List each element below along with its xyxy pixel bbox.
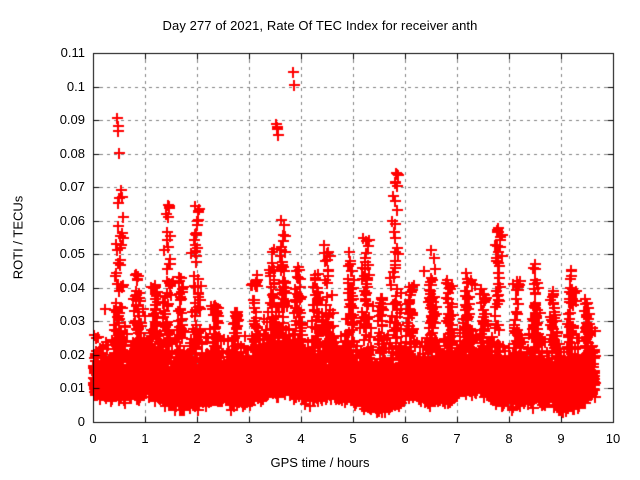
chart-figure: Day 277 of 2021, Rate Of TEC Index for r… [0,0,640,480]
x-tick-label: 10 [588,431,638,446]
y-tick-label: 0.02 [1,347,85,362]
y-tick-label: 0.08 [1,146,85,161]
y-tick-label: 0.06 [1,213,85,228]
x-axis-label: GPS time / hours [0,455,640,470]
x-tick-label: 3 [224,431,274,446]
y-tick-label: 0.01 [1,380,85,395]
x-tick-label: 6 [380,431,430,446]
x-tick-label: 7 [432,431,482,446]
plot-canvas-container [0,0,640,480]
y-tick-label: 0.05 [1,246,85,261]
y-tick-label: 0.03 [1,313,85,328]
x-tick-label: 9 [536,431,586,446]
y-tick-label: 0.04 [1,280,85,295]
x-tick-label: 0 [68,431,118,446]
x-tick-label: 8 [484,431,534,446]
x-tick-label: 5 [328,431,378,446]
y-tick-label: 0.1 [1,79,85,94]
y-tick-label: 0.09 [1,112,85,127]
scatter-plot-canvas [0,0,640,480]
y-tick-label: 0.11 [1,45,85,60]
x-tick-label: 4 [276,431,326,446]
x-tick-label: 1 [120,431,170,446]
x-tick-label: 2 [172,431,222,446]
y-tick-label: 0 [1,414,85,429]
y-tick-label: 0.07 [1,179,85,194]
